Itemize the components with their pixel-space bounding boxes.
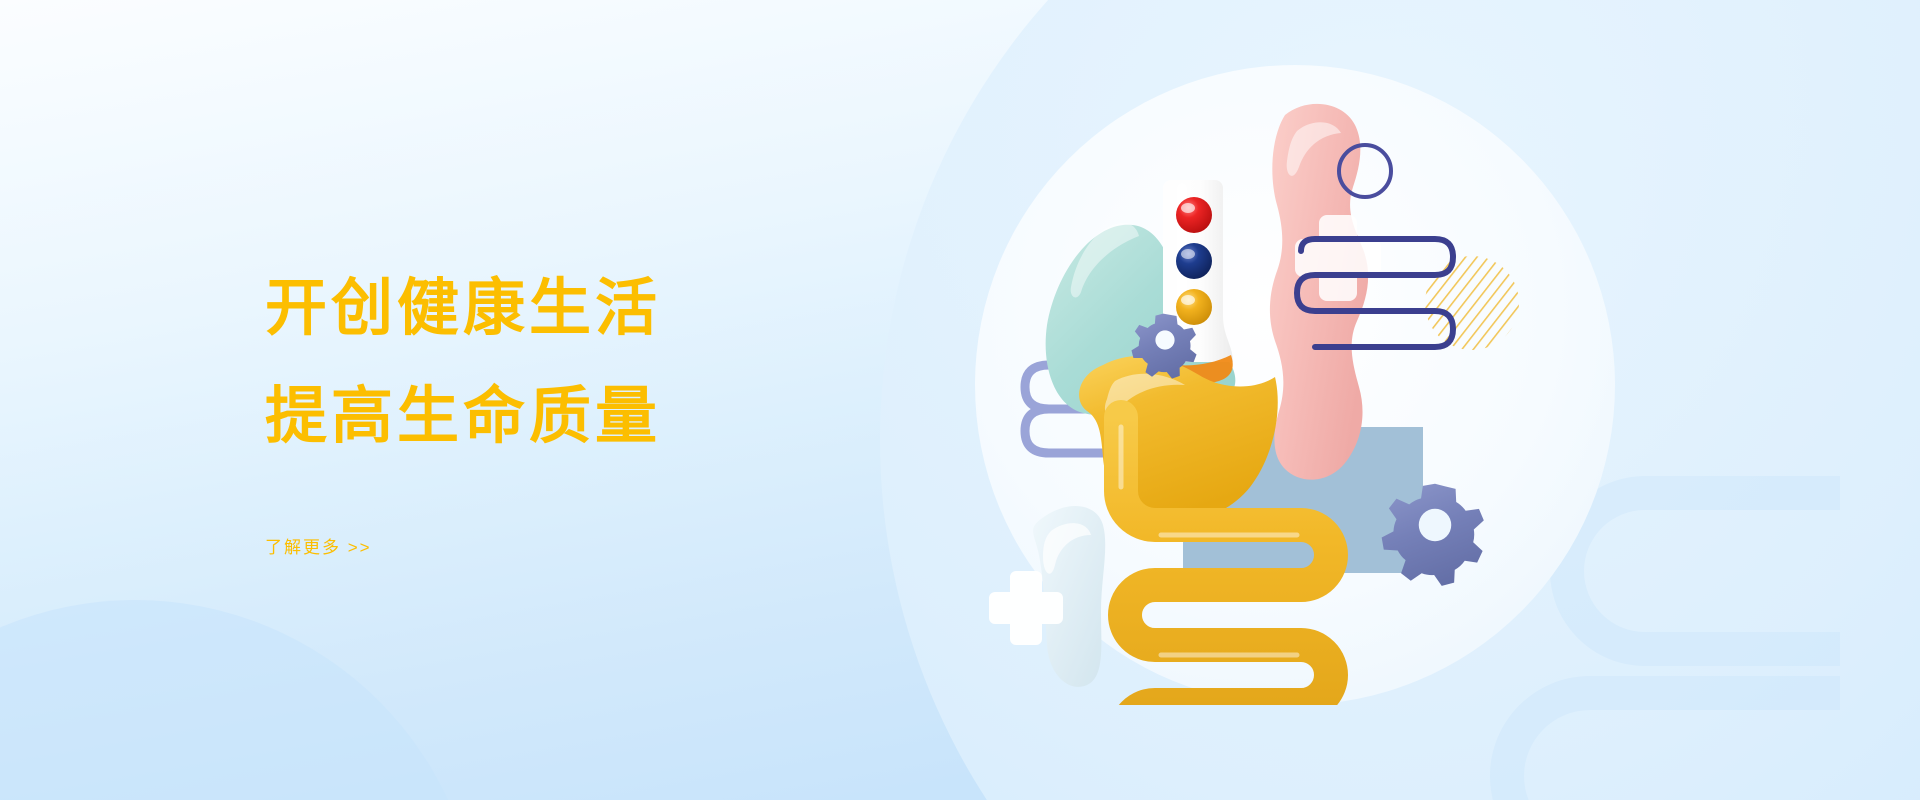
bead-navy-gloss — [1181, 249, 1195, 259]
bead-navy — [1176, 243, 1212, 279]
bead-red-gloss — [1181, 203, 1195, 213]
headline-line-1: 开创健康生活 — [265, 255, 905, 363]
bead-yellow — [1176, 289, 1212, 325]
learn-more-link[interactable]: 了解更多 >> — [265, 533, 372, 558]
hatched-circle-icon — [1423, 254, 1523, 354]
bead-yellow-gloss — [1181, 295, 1195, 305]
health-banner: 开创健康生活 提高生命质量 了解更多 >> — [0, 0, 1920, 800]
background-circle-left — [0, 600, 480, 800]
headline-line-2: 提高生命质量 — [265, 363, 905, 471]
digestive-system-art — [975, 65, 1615, 705]
illustration — [975, 65, 1615, 705]
copy-block: 开创健康生活 提高生命质量 了解更多 >> — [265, 255, 905, 558]
bead-red — [1176, 197, 1212, 233]
